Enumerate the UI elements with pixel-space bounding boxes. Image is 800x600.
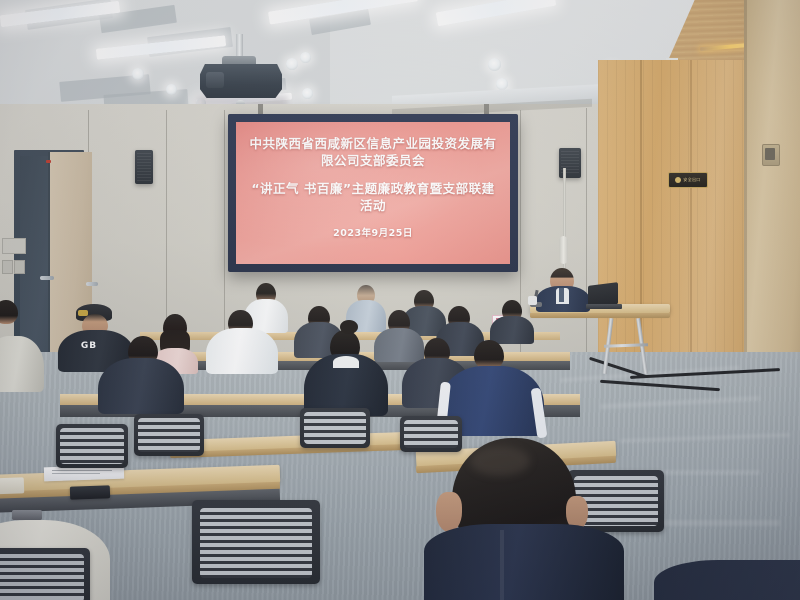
slide-date-text: 2023年9月25日 bbox=[333, 228, 413, 241]
chair-slats bbox=[404, 420, 458, 448]
column-switch-button[interactable] bbox=[765, 148, 775, 160]
wall-speaker-grill bbox=[137, 153, 151, 181]
door-handle[interactable] bbox=[40, 276, 54, 280]
speaker-cable-clip bbox=[559, 236, 568, 264]
document-line bbox=[52, 473, 100, 474]
desk-grommet bbox=[12, 510, 42, 520]
presenter-tie bbox=[559, 288, 564, 302]
attendee-body bbox=[98, 358, 184, 414]
suit-seam bbox=[500, 530, 504, 600]
chair-slats bbox=[138, 418, 200, 452]
mobile-phone[interactable] bbox=[70, 485, 110, 499]
presenter-desk-edge bbox=[530, 313, 670, 318]
meeting-room-photo: 中共陕西省西咸新区信息产业园投资发展有限公司支部委员会 “讲正气 书百廉”主题廉… bbox=[0, 0, 800, 600]
wall-panel-plate[interactable] bbox=[2, 238, 26, 254]
chair-slats bbox=[0, 554, 84, 600]
slide-organization-text: 中共陕西省西咸新区信息产业园投资发展有限公司支部委员会 bbox=[246, 136, 501, 169]
projection-screen[interactable]: 中共陕西省西咸新区信息产业园投资发展有限公司支部委员会 “讲正气 书百廉”主题廉… bbox=[236, 122, 510, 264]
chair-slats bbox=[304, 412, 366, 444]
document-line bbox=[52, 470, 112, 471]
jacket-logo-text: GB bbox=[66, 341, 112, 351]
ceiling-downlight bbox=[166, 84, 177, 95]
light-switch[interactable] bbox=[14, 260, 25, 274]
door-indicator-light bbox=[46, 160, 51, 163]
attendee-body bbox=[490, 316, 534, 344]
light-switch[interactable] bbox=[2, 260, 13, 274]
name-card bbox=[528, 296, 537, 305]
ceiling-downlight bbox=[286, 58, 298, 70]
ceiling-downlight bbox=[496, 78, 508, 90]
hair-highlight bbox=[470, 446, 530, 476]
attendee-body bbox=[374, 328, 424, 362]
exit-sign-label: 安全出口 bbox=[683, 177, 700, 183]
foreground-attendee-ear bbox=[436, 492, 462, 532]
ceiling-downlight bbox=[132, 68, 144, 80]
presenter-laptop-base[interactable] bbox=[586, 304, 622, 309]
chair-slats bbox=[60, 428, 124, 464]
wall-seam bbox=[224, 110, 225, 354]
ceiling-downlight bbox=[302, 88, 313, 99]
ceiling-downlight bbox=[488, 58, 501, 71]
exit-sign-icon bbox=[675, 177, 681, 183]
notebook[interactable] bbox=[0, 477, 24, 494]
foreground-attendee-body bbox=[424, 524, 624, 600]
ceiling-downlight bbox=[300, 52, 311, 63]
slide-theme-text: “讲正气 书百廉”主题廉政教育暨支部联建活动 bbox=[246, 181, 501, 214]
attendee-collar bbox=[333, 356, 359, 368]
chair-slats bbox=[200, 508, 312, 578]
attendee-body-white-shirt bbox=[206, 328, 278, 374]
exit-sign: 安全出口 bbox=[668, 172, 708, 188]
projector-lens bbox=[206, 72, 224, 88]
foreground-attendee-right bbox=[654, 560, 800, 600]
attendee-hair-bun bbox=[340, 320, 358, 334]
door-handle[interactable] bbox=[86, 282, 98, 286]
